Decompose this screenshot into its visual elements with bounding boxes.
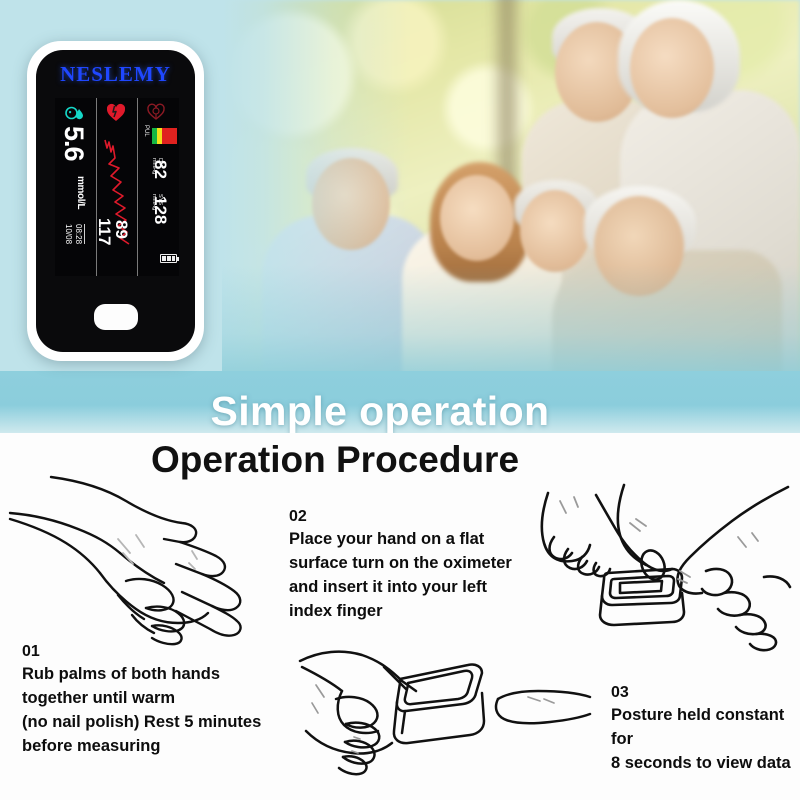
- dia-label: DIA: [157, 158, 163, 167]
- blood-pressure-icon: [144, 102, 168, 127]
- home-button[interactable]: [94, 304, 138, 330]
- person-head: [520, 190, 590, 272]
- pul-label: PUL: [143, 125, 149, 137]
- glucose-date: 10/08: [64, 224, 73, 244]
- step-01-line-2: together until warm: [22, 687, 261, 711]
- oximeter-device: NESLEMY 5.6 mmol/L 08:28 10/08: [27, 41, 204, 361]
- person-head: [440, 175, 514, 261]
- battery-icon: [160, 254, 177, 263]
- hands-rubbing-together-illustration: [0, 463, 286, 653]
- step-02-text: 02 Place your hand on a flat surface tur…: [289, 505, 512, 624]
- sys-label: SYS: [157, 194, 163, 205]
- hero-section: Simple operation NESLEMY 5.6 mmol/L: [0, 0, 800, 433]
- step-03-text: 03 Posture held constant for 8 seconds t…: [611, 681, 800, 776]
- step-01-line-3: (no nail polish) Rest 5 minutes: [22, 711, 261, 735]
- glucose-value: 5.6: [58, 126, 89, 161]
- step-02-line-1: Place your hand on a flat: [289, 528, 512, 552]
- hand-holding-steady-with-oximeter-illustration: [292, 631, 592, 796]
- step-03-number: 03: [611, 681, 800, 704]
- blood-pressure-panel: PUL 82 DIA mmHg 128 SYS mmHg: [138, 98, 179, 276]
- blood-drop-icon: [63, 105, 85, 126]
- step-01-line-1: Rub palms of both hands: [22, 663, 261, 687]
- heart-icon: [105, 103, 127, 128]
- glucose-time: 08:28: [74, 224, 85, 244]
- glucose-panel: 5.6 mmol/L 08:28 10/08: [55, 98, 97, 276]
- pulse-level-bars: [152, 128, 177, 144]
- hero-headline: Simple operation: [0, 388, 800, 433]
- step-02-number: 02: [289, 505, 512, 528]
- step-01-number: 01: [22, 640, 261, 663]
- step-01-line-4: before measuring: [22, 735, 261, 759]
- step-02-line-2: surface turn on the oximeter: [289, 552, 512, 576]
- seniors-photo: [222, 0, 800, 415]
- brand-logo: NESLEMY: [36, 62, 195, 87]
- heart-rate-panel: 89 117: [97, 98, 139, 276]
- heart-value-bottom: 117: [94, 218, 114, 245]
- device-body: NESLEMY 5.6 mmol/L 08:28 10/08: [36, 50, 195, 352]
- step-03-line-2: 8 seconds to view data: [611, 752, 800, 776]
- person-head: [630, 18, 714, 118]
- dia-unit: mmHg: [151, 158, 157, 174]
- step-03-line-1: Posture held constant for: [611, 704, 800, 752]
- device-screen: 5.6 mmol/L 08:28 10/08: [55, 98, 179, 276]
- sys-unit: mmHg: [151, 194, 157, 210]
- step-02-line-3: and insert it into your left: [289, 576, 512, 600]
- glucose-unit: mmol/L: [75, 176, 86, 209]
- step-02-line-4: index finger: [289, 600, 512, 624]
- step-01-text: 01 Rub palms of both hands together unti…: [22, 640, 261, 759]
- procedure-section: Operation Procedure: [0, 433, 800, 800]
